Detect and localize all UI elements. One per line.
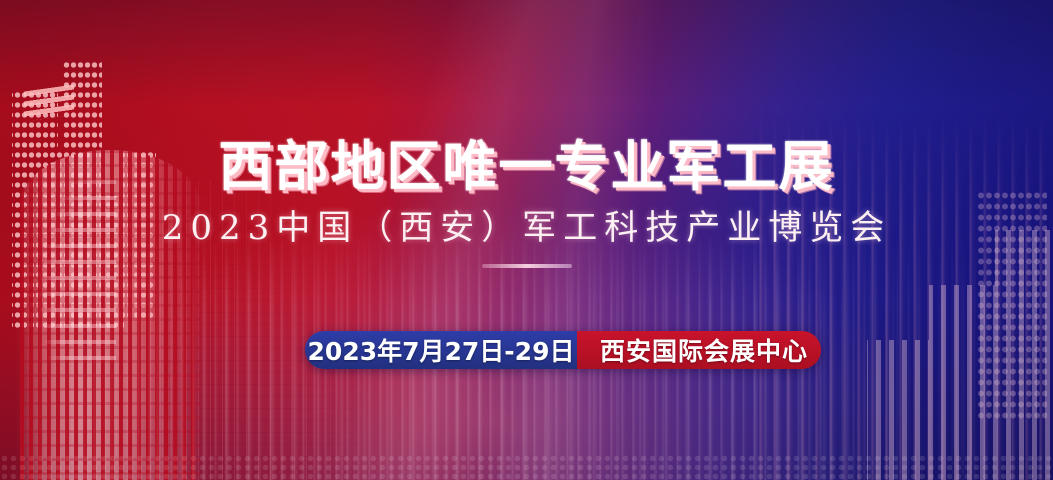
poster-content: 西部地区唯一专业军工展 2023中国（西安）军工科技产业博览会 2023年7月2… — [0, 0, 1053, 480]
badge-venue-section: 西安国际会展中心 — [577, 331, 821, 369]
divider — [482, 264, 572, 268]
event-date: 2023年7月27日-29日 — [308, 332, 575, 368]
event-info-badge: 2023年7月27日-29日 西安国际会展中心 — [305, 331, 821, 369]
page-title: 西部地区唯一专业军工展 — [0, 122, 1053, 201]
page-subtitle: 2023中国（西安）军工科技产业博览会 — [0, 200, 1053, 249]
exhibition-poster: 西部地区唯一专业军工展 2023中国（西安）军工科技产业博览会 2023年7月2… — [0, 0, 1053, 480]
badge-date-section: 2023年7月27日-29日 — [305, 331, 577, 369]
event-venue: 西安国际会展中心 — [590, 332, 808, 368]
